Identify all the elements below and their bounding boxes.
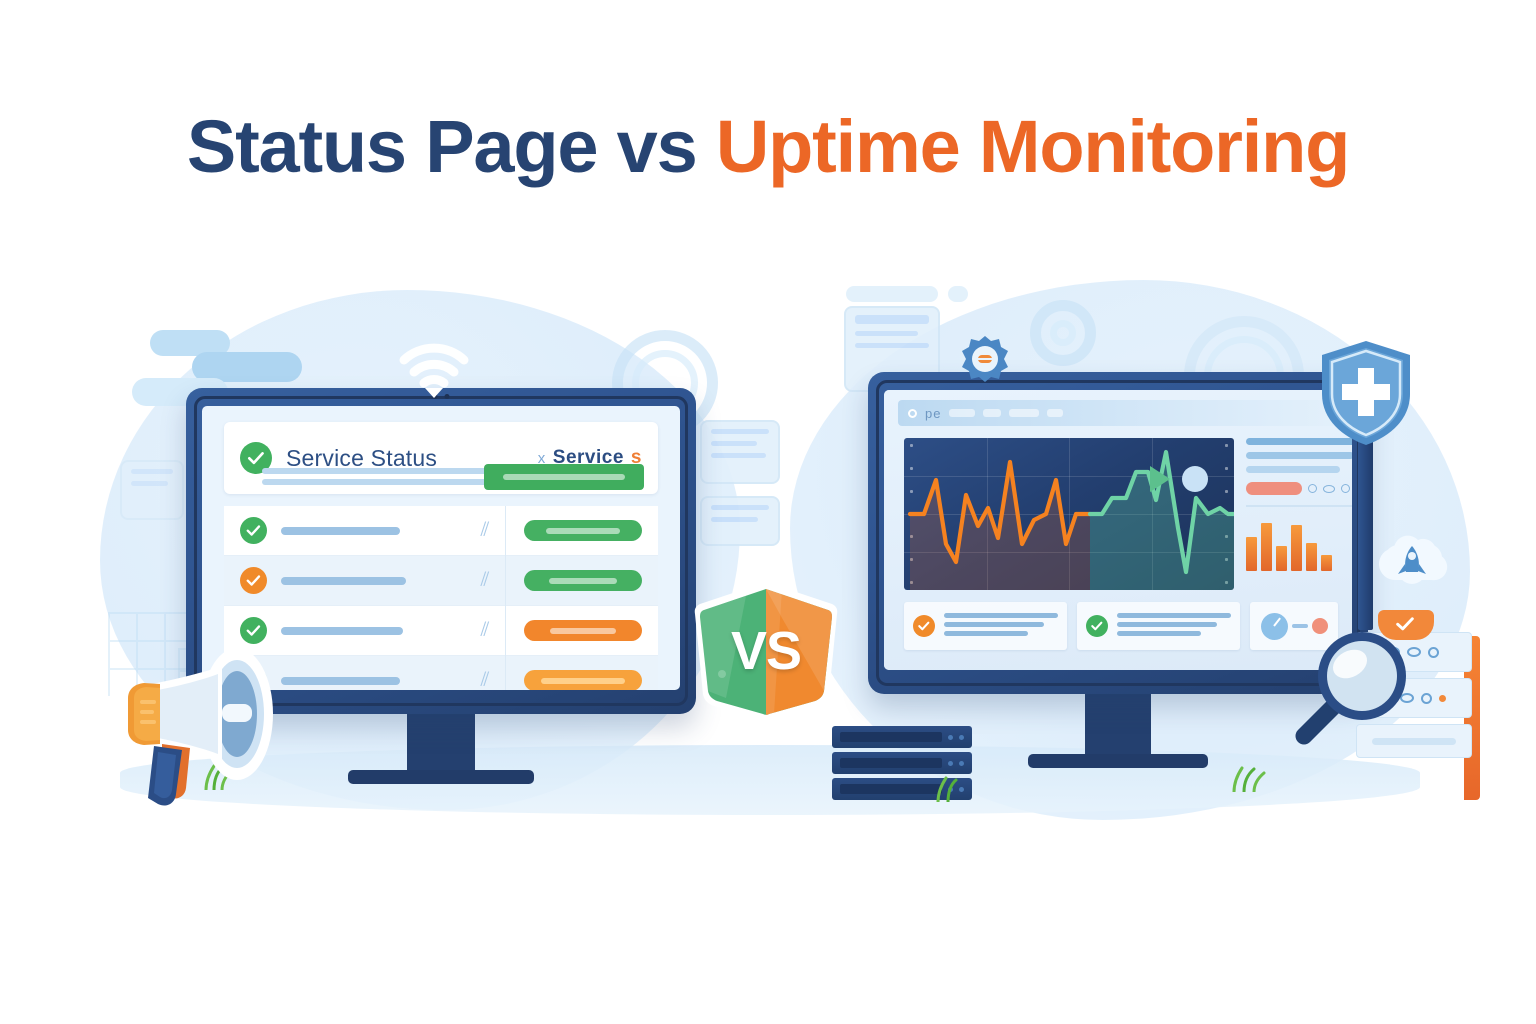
play-icon[interactable] [1150, 466, 1170, 492]
vs-label: VS [686, 578, 846, 724]
left-monitor-neck [407, 712, 475, 774]
alert-row [1246, 482, 1352, 495]
status-dot [908, 409, 917, 418]
shield-cross-icon [1318, 338, 1414, 448]
doc-deco-2 [700, 496, 780, 546]
chart-series [904, 438, 1234, 590]
server-unit [832, 752, 972, 774]
status-badge[interactable] [524, 620, 642, 641]
status-badge[interactable] [524, 670, 642, 690]
panel-deco-2 [948, 286, 968, 302]
ring-icon [1341, 484, 1350, 493]
status-badge[interactable] [524, 520, 642, 541]
status-card[interactable] [904, 602, 1067, 650]
cloud-rocket-icon [1374, 524, 1450, 600]
alert-dot [1439, 695, 1446, 702]
magnifying-glass-icon [1292, 618, 1422, 748]
right-monitor-neck [1085, 692, 1151, 758]
doc-deco-5 [120, 460, 184, 520]
row-label [281, 627, 446, 635]
left-monitor-base [348, 770, 534, 784]
row-label [281, 577, 446, 585]
dashboard-topbar: pe [898, 400, 1338, 426]
ring-icon [1323, 485, 1335, 493]
megaphone-icon [62, 636, 312, 816]
gear-deco-3 [1030, 300, 1096, 366]
row-label [281, 527, 446, 535]
dashboard-side-panel [1246, 438, 1352, 590]
check-circle-icon [240, 567, 267, 594]
monitoring-dashboard: pe [884, 390, 1352, 670]
divider [1246, 505, 1352, 507]
table-row[interactable]: ⫽ [224, 506, 658, 556]
title-second-part: Uptime Monitoring [716, 105, 1349, 188]
subscribe-button[interactable] [484, 464, 644, 490]
doc-deco-1 [700, 420, 780, 484]
row-sparkline: ⫽ [446, 519, 524, 542]
indicator-dot [1182, 466, 1208, 492]
incident-bar-chart [1246, 515, 1352, 571]
vs-badge: VS [686, 578, 846, 724]
grass-tuft [1228, 762, 1274, 797]
check-circle-icon [1086, 615, 1108, 637]
row-sparkline: ⫽ [446, 619, 524, 642]
status-badge[interactable] [524, 570, 642, 591]
row-sparkline: ⫽ [446, 669, 524, 690]
right-monitor-screen: pe [884, 390, 1352, 670]
ground-shadow [120, 745, 1420, 815]
response-time-chart [904, 438, 1234, 590]
alert-pill [1246, 482, 1302, 495]
page-title: Status Page vs Uptime Monitoring [0, 108, 1536, 186]
row-sparkline: ⫽ [446, 569, 524, 592]
right-monitor-base [1028, 754, 1208, 768]
check-circle-icon [913, 615, 935, 637]
status-card[interactable] [1077, 602, 1240, 650]
title-first-part: Status Page vs [187, 105, 716, 188]
illustration-canvas: Status Page vs Uptime Monitoring [0, 0, 1536, 1024]
gauge-icon [1261, 613, 1288, 640]
dashboard-status-cards [904, 602, 1338, 650]
dashboard-topbar-label: pe [925, 406, 941, 421]
column-divider [505, 506, 506, 690]
gear-badge-icon [960, 334, 1010, 384]
grass-tuft [932, 774, 972, 807]
check-circle-icon [240, 517, 267, 544]
ring-icon [1308, 484, 1317, 493]
wifi-icon [398, 338, 470, 398]
table-row[interactable]: ⫽ [224, 556, 658, 606]
server-unit [832, 726, 972, 748]
shield-pole [1358, 430, 1373, 630]
panel-deco-1 [846, 286, 938, 302]
